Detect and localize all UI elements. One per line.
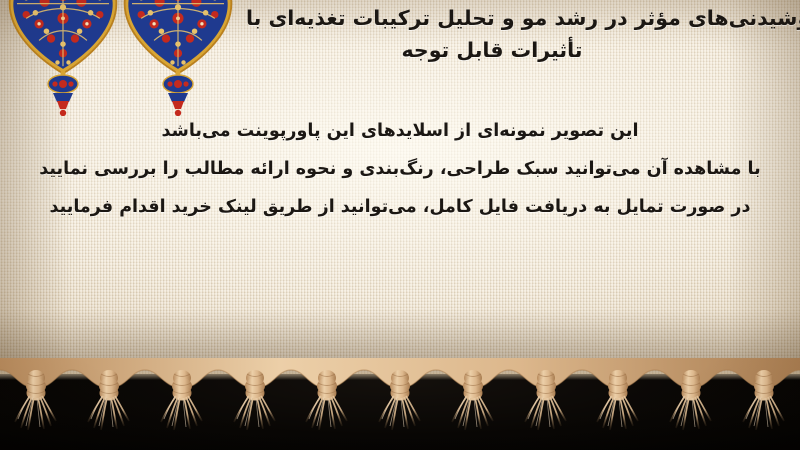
body-line-2: با مشاهده آن می‌توانید سبک طراحی، رنگ‌بن… (0, 150, 800, 188)
slide-body: این تصویر نمونه‌ای از اسلایدهای این پاور… (0, 112, 800, 226)
presentation-slide: سی نوشیدنی‌های مؤثر در رشد مو و تحلیل تر… (0, 0, 800, 450)
slide-title: سی نوشیدنی‌های مؤثر در رشد مو و تحلیل تر… (196, 2, 788, 66)
title-line-1: سی نوشیدنی‌های مؤثر در رشد مو و تحلیل تر… (196, 2, 800, 34)
body-line-1: این تصویر نمونه‌ای از اسلایدهای این پاور… (0, 112, 800, 150)
black-band (0, 374, 800, 450)
body-line-3: در صورت تمایل به دریافت فایل کامل، می‌تو… (0, 188, 800, 226)
title-line-2: تأثیرات قابل توجه (196, 34, 788, 66)
